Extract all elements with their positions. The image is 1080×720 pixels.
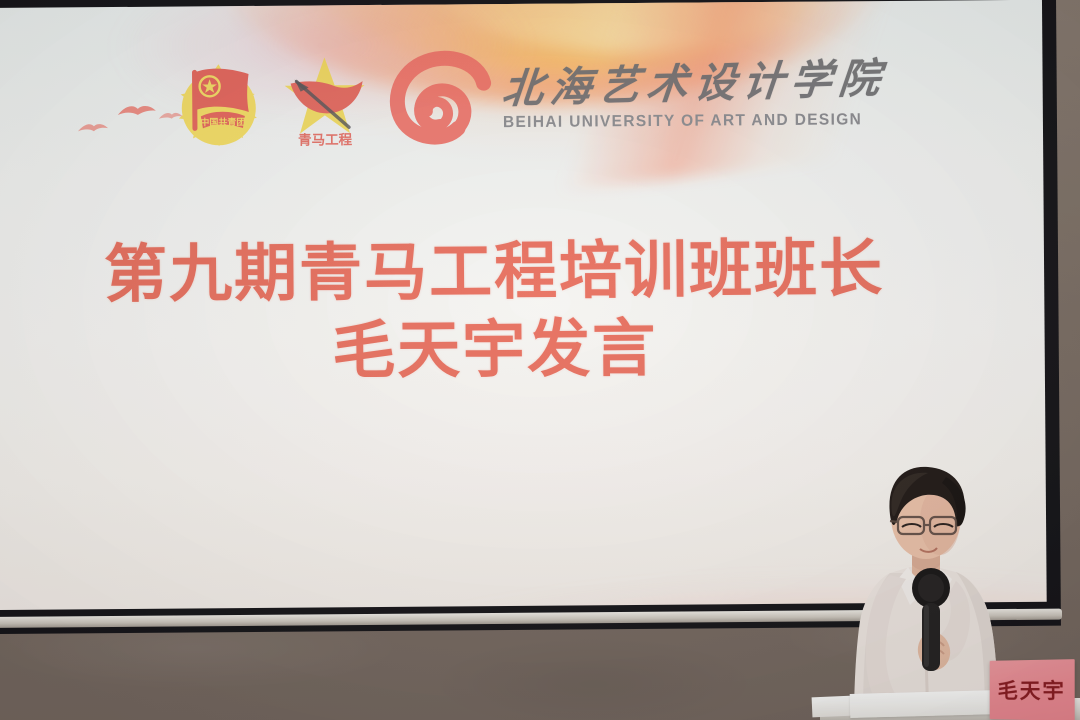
university-name-en: BEIHAI UNIVERSITY OF ART AND DESIGN (503, 110, 862, 132)
slide-title-block: 第九期青马工程培训班班长 毛天宇发言 (0, 228, 995, 392)
nameplate-text: 毛天宇 (998, 675, 1066, 706)
bird-icon-2 (77, 121, 109, 135)
university-name-cn: 北海艺术设计学院 (500, 57, 889, 111)
slide-title-line-1: 第九期青马工程培训班班长 (0, 228, 994, 314)
qingma-star-logo-icon: 青马工程 (274, 51, 375, 148)
speaker-nameplate: 毛天宇 (990, 659, 1075, 720)
svg-text:青马工程: 青马工程 (298, 131, 353, 148)
speech-script-paper (850, 690, 1001, 718)
beihai-spiral-mark-icon (386, 49, 495, 148)
presentation-photo: 中国共青团 青马工程 (0, 0, 1080, 720)
svg-text:中国共青团: 中国共青团 (200, 116, 245, 128)
slide-title-line-2: 毛天宇发言 (0, 306, 995, 392)
university-wordmark: 北海艺术设计学院 BEIHAI UNIVERSITY OF ART AND DE… (502, 45, 887, 148)
slide-logo-row: 中国共青团 青马工程 (164, 45, 887, 151)
bird-icon-1 (117, 103, 157, 121)
flying-birds-decoration (51, 99, 181, 152)
communist-youth-league-emblem-icon: 中国共青团 (164, 50, 273, 151)
